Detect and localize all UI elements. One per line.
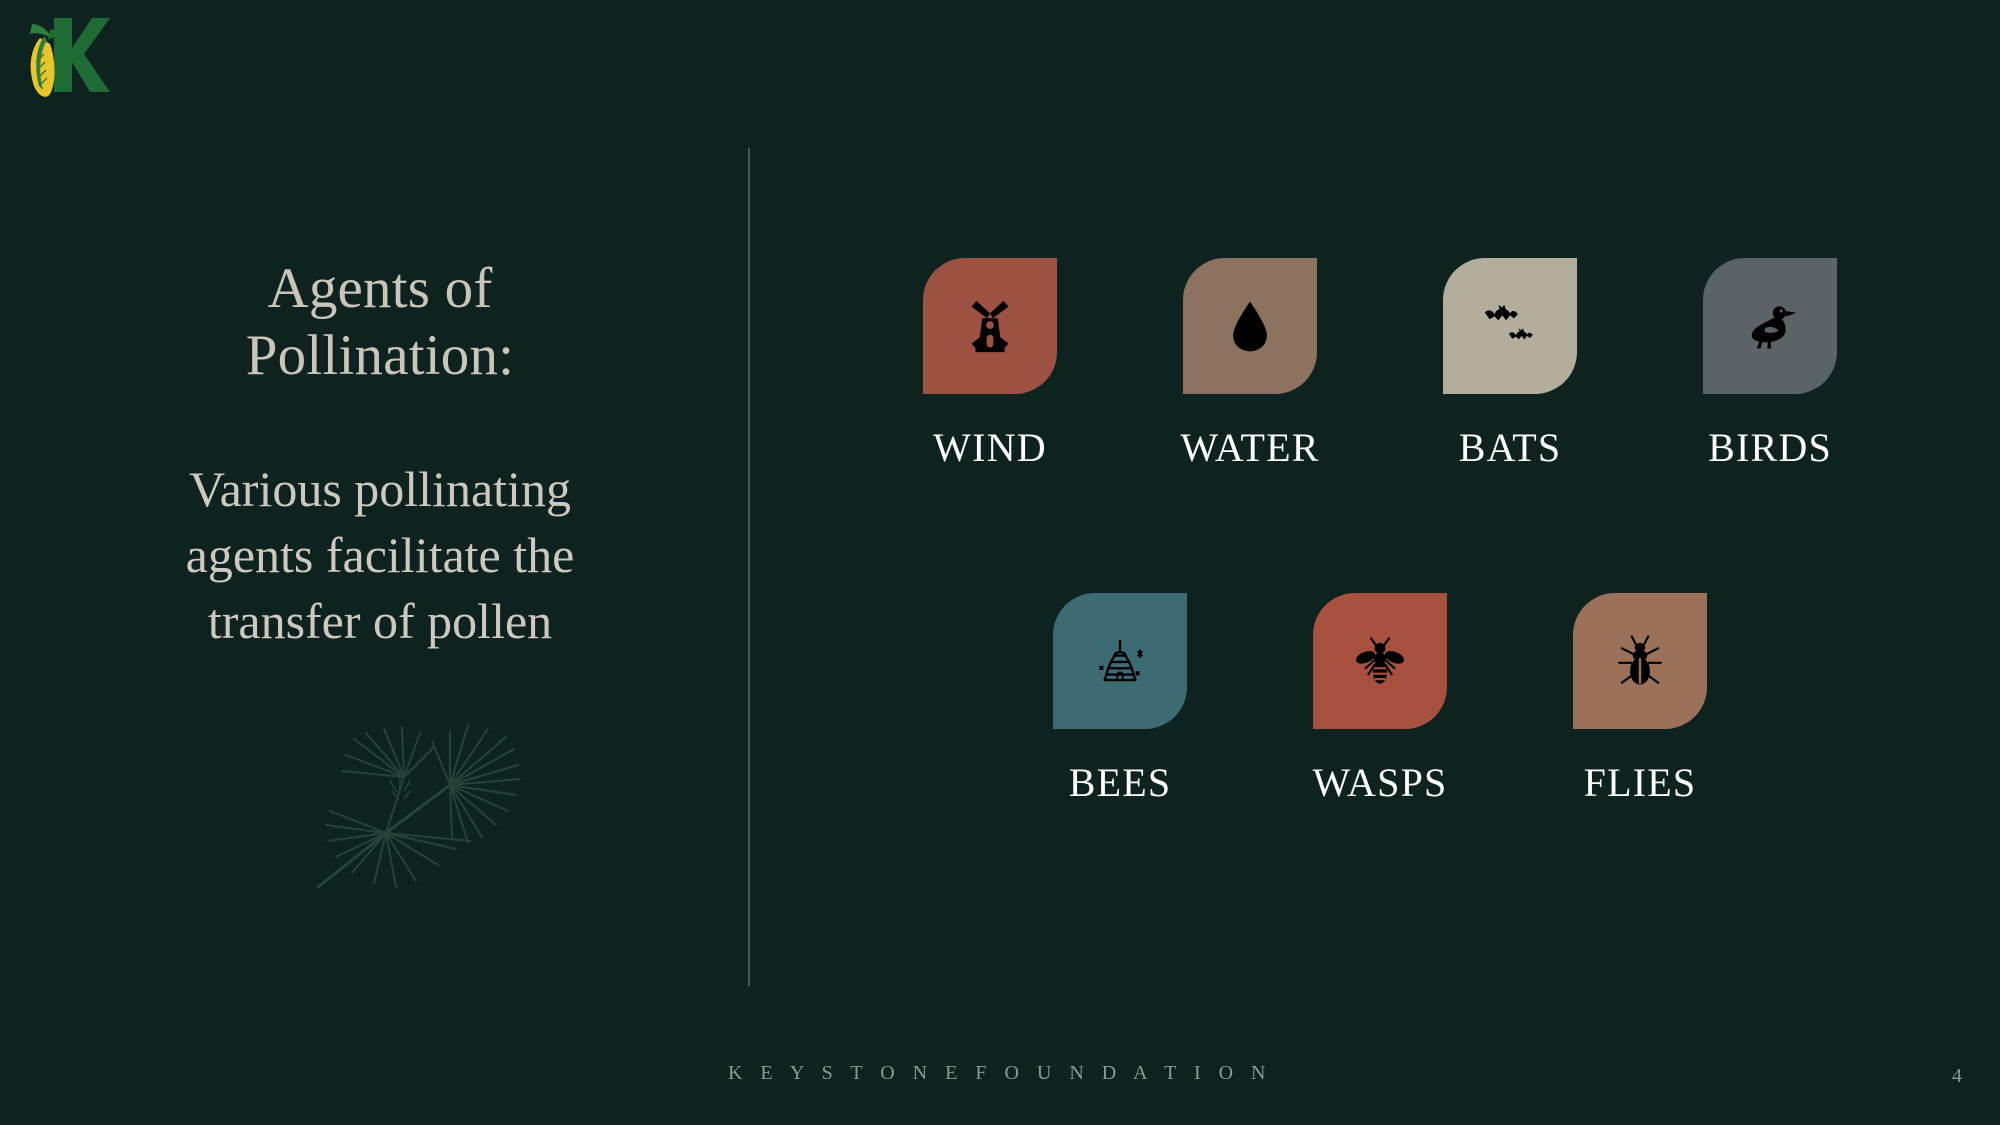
agent-cell-birds[interactable]: BIRDS [1640, 258, 1900, 471]
agent-card-bees[interactable] [1053, 593, 1187, 729]
agent-cell-bees[interactable]: BEES [990, 593, 1250, 806]
agent-label-birds: BIRDS [1708, 424, 1832, 471]
bats-icon [1479, 295, 1541, 357]
slide-body-line-3: transfer of pollen [60, 588, 700, 654]
slide-body-line-1: Various pollinating [60, 456, 700, 522]
agent-label-bees: BEES [1069, 759, 1172, 806]
page-title: Agents of Pollination: [60, 255, 700, 390]
agent-card-bats[interactable] [1443, 258, 1577, 394]
column-divider [748, 148, 750, 986]
agent-card-wind[interactable] [923, 258, 1057, 394]
agent-row-1: WIND WATER [860, 258, 1920, 471]
agent-label-wind: WIND [933, 424, 1047, 471]
beehive-icon [1091, 632, 1149, 690]
agent-card-birds[interactable] [1703, 258, 1837, 394]
keystone-k-logo [14, 10, 110, 102]
page-title-line-2: Pollination: [60, 322, 700, 389]
agent-cell-wind[interactable]: WIND [860, 258, 1120, 471]
slide-body-text: Various pollinating agents facilitate th… [60, 456, 700, 654]
wasp-icon [1351, 632, 1409, 690]
agent-cell-water[interactable]: WATER [1120, 258, 1380, 471]
agent-cell-flies[interactable]: FLIES [1510, 593, 1770, 806]
agent-cell-wasps[interactable]: WASPS [1250, 593, 1510, 806]
agent-label-flies: FLIES [1584, 759, 1697, 806]
water-drop-icon [1220, 296, 1280, 356]
agent-card-flies[interactable] [1573, 593, 1707, 729]
agent-cell-bats[interactable]: BATS [1380, 258, 1640, 471]
fly-beetle-icon [1611, 632, 1669, 690]
slide-body-line-2: agents facilitate the [60, 522, 700, 588]
agent-label-wasps: WASPS [1313, 759, 1448, 806]
pine-branch-icon [300, 715, 530, 895]
pollination-agents-grid: WIND WATER [860, 258, 1920, 806]
footer-brand: K E Y S T O N E F O U N D A T I O N [0, 1062, 2000, 1085]
windmill-icon [959, 295, 1021, 357]
bird-icon [1740, 296, 1800, 356]
agent-label-water: WATER [1180, 424, 1319, 471]
agent-card-wasps[interactable] [1313, 593, 1447, 729]
page-number: 4 [1952, 1065, 1962, 1088]
page-title-line-1: Agents of [60, 255, 700, 322]
left-text-column: Agents of Pollination: Various pollinati… [60, 255, 700, 654]
agent-label-bats: BATS [1459, 424, 1562, 471]
agent-row-2: BEES [860, 593, 1920, 806]
agent-card-water[interactable] [1183, 258, 1317, 394]
